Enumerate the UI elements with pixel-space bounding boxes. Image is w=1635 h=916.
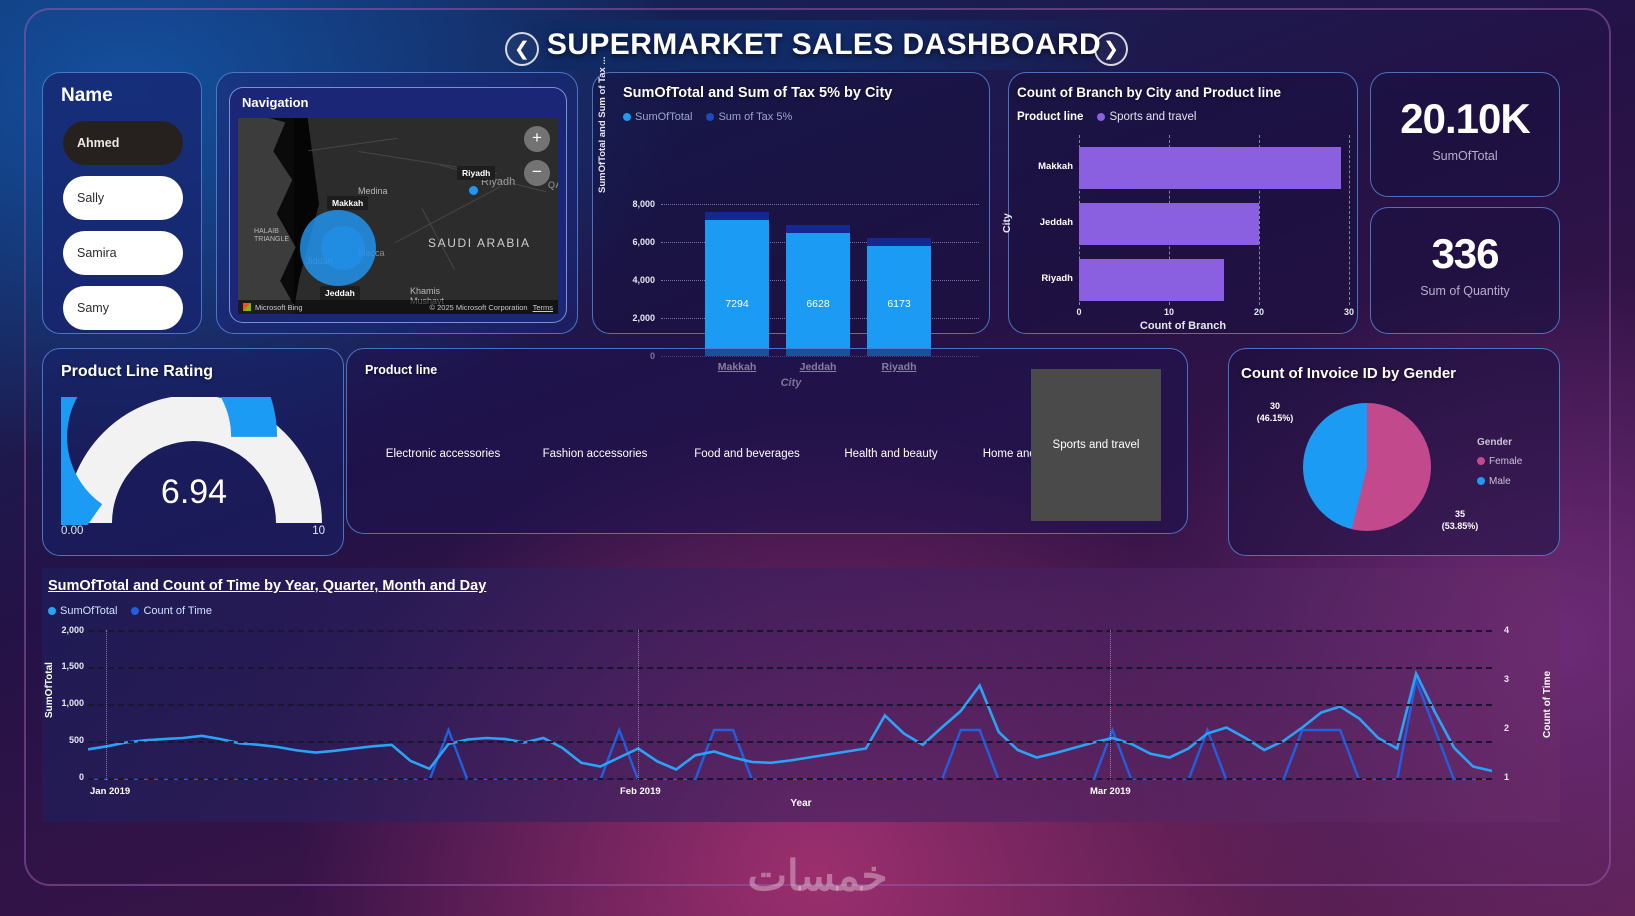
- product-line-slicer: Product line Electronic accessories Fash…: [346, 348, 1188, 534]
- map-label-qatar: QATAR: [548, 180, 558, 190]
- page-title: SUPERMARKET SALES DASHBOARD: [547, 28, 1101, 62]
- branch-legend-item[interactable]: Sports and travel: [1097, 111, 1196, 123]
- product-line-option-food[interactable]: Food and beverages: [671, 385, 823, 523]
- timeline-ytick-1500: 1,500: [44, 661, 84, 671]
- branch-xtick-20: 20: [1247, 307, 1271, 317]
- legend-item-sumoftotal[interactable]: SumOfTotal: [623, 111, 692, 123]
- timeline-xtick-feb: Feb 2019: [620, 786, 661, 797]
- column-bar-value-jeddah: 6628: [786, 298, 850, 310]
- column-chart-y-title: SumOfTotal and Sum of Tax ...: [597, 57, 608, 193]
- col-ytick-8000: 8,000: [609, 199, 655, 209]
- timeline-y2-title: Count of Time: [1542, 671, 1553, 738]
- timeline-chart-title: SumOfTotal and Count of Time by Year, Qu…: [48, 578, 486, 594]
- gauge-title: Product Line Rating: [61, 363, 213, 381]
- column-bar-riyadh[interactable]: 6173: [867, 238, 931, 356]
- timeline-legend-sumoftotal[interactable]: SumOfTotal: [48, 605, 117, 617]
- timeline-ytick-1000: 1,000: [44, 698, 84, 708]
- navigation-title: Navigation: [242, 95, 308, 110]
- branch-bar-makkah[interactable]: [1079, 147, 1341, 189]
- product-line-option-electronic[interactable]: Electronic accessories: [367, 385, 519, 523]
- branch-legend-title: Product line: [1017, 111, 1083, 123]
- branch-chart-title: Count of Branch by City and Product line: [1017, 85, 1281, 100]
- name-option-sally[interactable]: Sally: [63, 176, 183, 220]
- col-ytick-4000: 4,000: [609, 275, 655, 285]
- timeline-ytick-2000: 2,000: [44, 625, 84, 635]
- gauge-min-label: 0.00: [61, 525, 83, 537]
- map-pin-jeddah[interactable]: Jeddah: [320, 286, 360, 300]
- branch-ytick-riyadh[interactable]: Riyadh: [1019, 273, 1073, 284]
- column-bar-tax-segment: [705, 212, 769, 220]
- pie-callout-female: 35 (53.85%): [1425, 509, 1495, 532]
- product-line-option-health[interactable]: Health and beauty: [823, 385, 959, 523]
- timeline-y2tick-2: 2: [1504, 723, 1509, 733]
- column-chart-card: SumOfTotal and Sum of Tax 5% by City Sum…: [592, 72, 990, 334]
- map-terms-link[interactable]: Terms: [533, 303, 553, 312]
- name-option-ahmed[interactable]: Ahmed: [63, 121, 183, 165]
- gauge-visual[interactable]: 6.94: [61, 397, 327, 525]
- name-slicer: Name Ahmed Sally Samira Samy: [42, 72, 202, 334]
- map-provider-label: Microsoft Bing: [255, 303, 303, 312]
- watermark: خمسات: [0, 851, 1635, 900]
- product-line-option-sports[interactable]: Sports and travel: [1031, 369, 1161, 521]
- kpi-card-sumoftotal[interactable]: 20.10K SumOfTotal: [1370, 72, 1560, 197]
- column-bar-tax-segment: [786, 225, 850, 233]
- name-slicer-title: Name: [61, 85, 113, 107]
- gauge-max-label: 10: [312, 525, 325, 537]
- kpi-value-sumoftotal: 20.10K: [1371, 95, 1559, 143]
- map-label-halaib: HALAIB TRIANGLE: [254, 228, 294, 243]
- pie-callout-male: 30 (46.15%): [1243, 401, 1307, 424]
- gridline: [661, 204, 979, 205]
- map-attribution: Microsoft Bing © 2025 Microsoft Corporat…: [238, 300, 558, 314]
- kpi-value-quantity: 336: [1371, 230, 1559, 278]
- gender-pie-card: Count of Invoice ID by Gender 30 (46.15%…: [1228, 348, 1560, 556]
- timeline-y2tick-3: 3: [1504, 674, 1509, 684]
- col-ytick-2000: 2,000: [609, 313, 655, 323]
- branch-bar-jeddah[interactable]: [1079, 203, 1259, 245]
- timeline-y2tick-1: 1: [1504, 772, 1509, 782]
- map-pin-makkah[interactable]: Makkah: [327, 196, 368, 210]
- kpi-label-sumoftotal: SumOfTotal: [1371, 149, 1559, 163]
- kpi-label-quantity: Sum of Quantity: [1371, 284, 1559, 298]
- bing-logo-icon: [243, 303, 251, 311]
- branch-chart-x-title: Count of Branch: [1009, 320, 1357, 332]
- timeline-plot-area[interactable]: [88, 630, 1492, 780]
- gauge-card: Product Line Rating 6.94 0.00 10: [42, 348, 344, 556]
- branch-chart-legend: Product line Sports and travel: [1017, 111, 1196, 123]
- column-chart-title: SumOfTotal and Sum of Tax 5% by City: [623, 85, 892, 101]
- timeline-legend-countoftime[interactable]: Count of Time: [131, 605, 211, 617]
- kpi-card-quantity[interactable]: 336 Sum of Quantity: [1370, 207, 1560, 334]
- name-option-samira[interactable]: Samira: [63, 231, 183, 275]
- legend-item-tax[interactable]: Sum of Tax 5%: [706, 111, 792, 123]
- navigation-inner: Navigation Medina SAUDI ARABIA Mecca Jid…: [229, 87, 567, 323]
- map-copyright: © 2025 Microsoft Corporation: [430, 303, 528, 312]
- column-bar-value-makkah: 7294: [705, 298, 769, 310]
- map-pin-riyadh[interactable]: Riyadh: [457, 166, 495, 180]
- timeline-y2tick-4: 4: [1504, 625, 1509, 635]
- map-zoom-in-button[interactable]: +: [524, 126, 550, 152]
- gender-pie-title: Count of Invoice ID by Gender: [1241, 365, 1456, 382]
- product-line-option-fashion[interactable]: Fashion accessories: [519, 385, 671, 523]
- bing-map[interactable]: Medina SAUDI ARABIA Mecca Jiddah Riyadh …: [238, 118, 558, 314]
- pie-legend-male[interactable]: Male: [1477, 476, 1511, 487]
- chevron-right-icon[interactable]: ❯: [1094, 32, 1128, 66]
- pie-legend-female[interactable]: Female: [1477, 456, 1522, 467]
- dashboard-canvas: SUPERMARKET SALES DASHBOARD ❮ ❯ Name Ahm…: [0, 0, 1635, 916]
- branch-bar-riyadh[interactable]: [1079, 259, 1224, 301]
- map-label-medina: Medina: [358, 186, 388, 196]
- timeline-xtick-jan: Jan 2019: [90, 786, 130, 797]
- branch-xtick-10: 10: [1157, 307, 1181, 317]
- map-zoom-out-button[interactable]: −: [524, 160, 550, 186]
- product-line-slicer-title: Product line: [365, 363, 437, 377]
- column-bar-value-riyadh: 6173: [867, 298, 931, 310]
- timeline-ytick-500: 500: [44, 735, 84, 745]
- gauge-value: 6.94: [61, 473, 327, 512]
- timeline-chart-card: SumOfTotal and Count of Time by Year, Qu…: [42, 568, 1560, 822]
- timeline-x-title: Year: [42, 798, 1560, 809]
- chevron-left-icon[interactable]: ❮: [505, 32, 539, 66]
- navigation-card: Navigation Medina SAUDI ARABIA Mecca Jid…: [216, 72, 578, 334]
- column-bar-jeddah[interactable]: 6628: [786, 225, 850, 356]
- dashboard-header: SUPERMARKET SALES DASHBOARD ❮ ❯: [0, 10, 1568, 76]
- col-ytick-6000: 6,000: [609, 237, 655, 247]
- branch-ytick-makkah[interactable]: Makkah: [1019, 161, 1073, 172]
- branch-xtick-0: 0: [1067, 307, 1091, 317]
- map-bubble-makkah[interactable]: [321, 226, 365, 270]
- timeline-xtick-mar: Mar 2019: [1090, 786, 1131, 797]
- timeline-chart-legend: SumOfTotal Count of Time: [48, 605, 212, 617]
- column-bar-makkah[interactable]: 7294: [705, 212, 769, 356]
- branch-ytick-jeddah[interactable]: Jeddah: [1019, 217, 1073, 228]
- pie-legend-title: Gender: [1477, 437, 1512, 448]
- name-option-samy[interactable]: Samy: [63, 286, 183, 330]
- timeline-ytick-0: 0: [44, 772, 84, 782]
- branch-chart-y-title: City: [1001, 213, 1013, 233]
- branch-bar-chart-card: Count of Branch by City and Product line…: [1008, 72, 1358, 334]
- map-label-country: SAUDI ARABIA: [428, 236, 531, 250]
- gridline: [1349, 135, 1350, 305]
- map-bubble-riyadh[interactable]: [469, 186, 478, 195]
- column-bar-tax-segment: [867, 238, 931, 246]
- column-chart-legend: SumOfTotal Sum of Tax 5%: [623, 111, 792, 123]
- branch-xtick-30: 30: [1337, 307, 1361, 317]
- gender-pie-visual[interactable]: [1303, 403, 1431, 531]
